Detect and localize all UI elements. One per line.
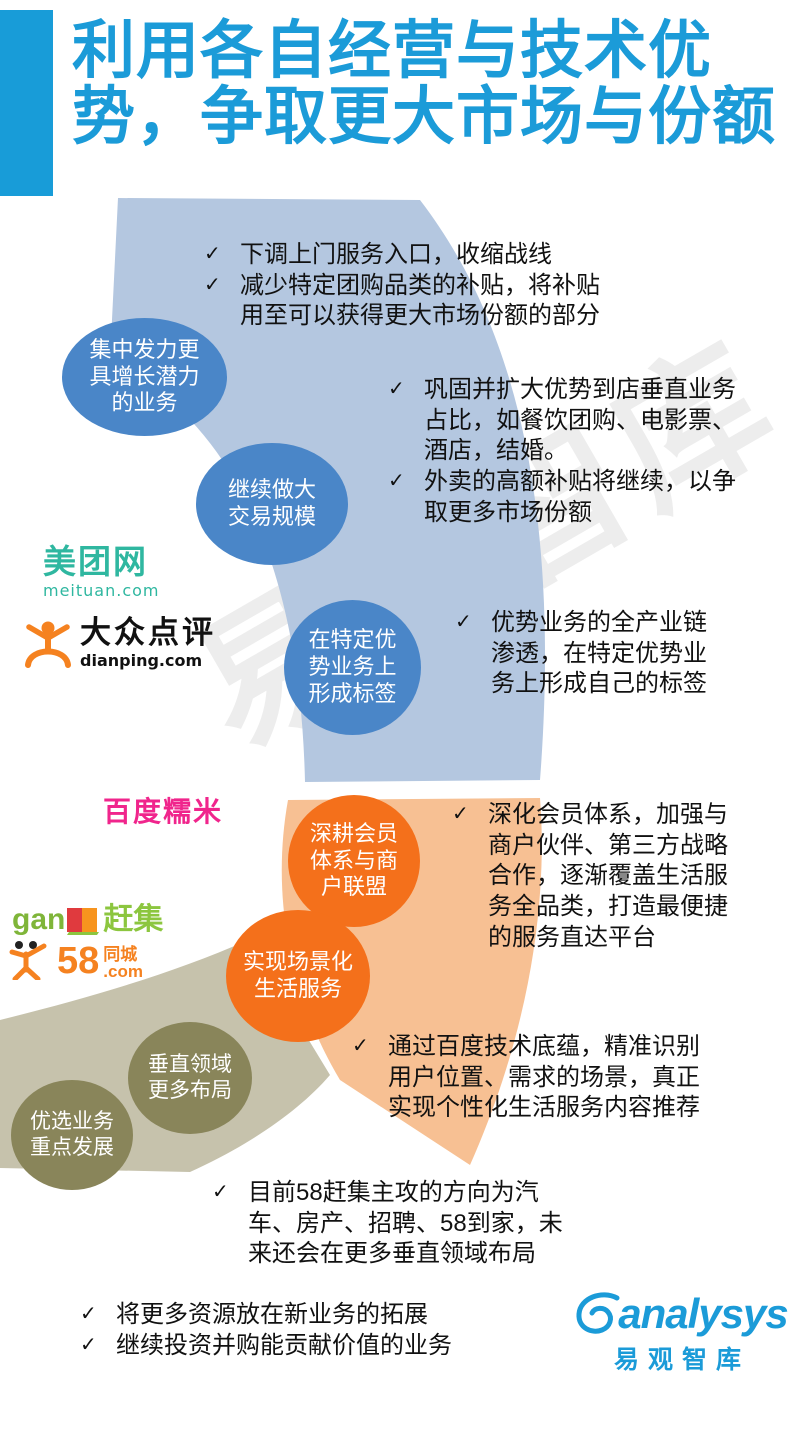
logo-meituan-name: 美团网: [43, 545, 160, 578]
bullet-text: 减少特定团购品类的补贴，将补贴: [240, 271, 794, 302]
bullet-item: ✓ 渗透，在特定优势业: [455, 639, 795, 670]
bullet-item: ✓ 务全品类，打造最便捷: [452, 892, 797, 923]
bullet-item: ✓ 巩固并扩大优势到店垂直业务: [388, 375, 808, 406]
bullets-blue-2: ✓ 巩固并扩大优势到店垂直业务 ✓ 占比，如餐饮团购、电影票、 ✓ 酒店，结婚。…: [388, 375, 808, 529]
check-icon-placeholder: ✓: [452, 861, 488, 888]
check-icon: ✓: [388, 467, 424, 494]
bullets-olive-1: ✓ 目前58赶集主攻的方向为汽 ✓ 车、房产、招聘、58到家，未 ✓ 来还会在更…: [212, 1178, 712, 1270]
check-icon-placeholder: ✓: [452, 831, 488, 858]
check-icon-placeholder: ✓: [204, 301, 240, 328]
bullet-text: 合作，逐渐覆盖生活服: [488, 861, 797, 892]
bubble-orange-2-label: 实现场景化 生活服务: [243, 949, 353, 1003]
logo-58-cn: 同城: [103, 946, 143, 963]
logo-dianping: 大众点评 dianping.com: [22, 618, 216, 670]
bullets-footer: ✓ 将更多资源放在新业务的拓展 ✓ 继续投资并购能贡献价值的业务: [80, 1300, 620, 1361]
bubble-olive-2: 优选业务 重点发展: [11, 1080, 133, 1190]
bullet-item: ✓ 目前58赶集主攻的方向为汽: [212, 1178, 712, 1209]
logo-dianping-domain: dianping.com: [80, 651, 216, 670]
logo-58-number: 58: [57, 942, 99, 980]
bullet-item: ✓ 下调上门服务入口，收缩战线: [204, 240, 794, 271]
bubble-blue-3: 在特定优 势业务上 形成标签: [284, 600, 421, 735]
bullet-text: 将更多资源放在新业务的拓展: [116, 1300, 620, 1331]
bullet-item: ✓ 将更多资源放在新业务的拓展: [80, 1300, 620, 1331]
check-icon: ✓: [388, 375, 424, 402]
logo-58-domain: .com: [103, 963, 143, 980]
bullet-text: 用至可以获得更大市场份额的部分: [240, 301, 794, 332]
check-icon: ✓: [204, 240, 240, 267]
check-icon-placeholder: ✓: [455, 669, 491, 696]
check-icon-placeholder: ✓: [352, 1093, 388, 1120]
ganji-book-icon: [67, 905, 101, 935]
logo-meituan-domain: meituan.com: [43, 581, 160, 600]
bullet-item: ✓ 继续投资并购能贡献价值的业务: [80, 1331, 620, 1362]
logo-ganji: gan 赶集: [12, 905, 163, 935]
check-icon-placeholder: ✓: [452, 923, 488, 950]
bullet-text: 的服务直达平台: [488, 923, 797, 954]
bullet-item: ✓ 来还会在更多垂直领域布局: [212, 1239, 712, 1270]
bubble-blue-1: 集中发力更 具增长潜力 的业务: [62, 318, 227, 436]
bullet-item: ✓ 用至可以获得更大市场份额的部分: [204, 301, 794, 332]
check-icon-placeholder: ✓: [455, 639, 491, 666]
bullet-item: ✓ 减少特定团购品类的补贴，将补贴: [204, 271, 794, 302]
bubble-olive-2-label: 优选业务 重点发展: [30, 1109, 114, 1160]
check-icon-placeholder: ✓: [212, 1239, 248, 1266]
bubble-blue-3-label: 在特定优 势业务上 形成标签: [308, 627, 396, 707]
bullet-text: 巩固并扩大优势到店垂直业务: [424, 375, 808, 406]
bullet-item: ✓ 用户位置、需求的场景，真正: [352, 1063, 800, 1094]
bubble-blue-2: 继续做大 交易规模: [196, 443, 348, 565]
bullet-item: ✓ 通过百度技术底蕴，精准识别: [352, 1032, 800, 1063]
check-icon-placeholder: ✓: [452, 892, 488, 919]
bullet-text: 务全品类，打造最便捷: [488, 892, 797, 923]
logo-ganji-en: gan: [12, 905, 65, 935]
check-icon-placeholder: ✓: [388, 498, 424, 525]
bullet-item: ✓ 酒店，结婚。: [388, 436, 808, 467]
dianping-person-icon: [22, 619, 74, 669]
check-icon-placeholder: ✓: [388, 406, 424, 433]
bullet-text: 继续投资并购能贡献价值的业务: [116, 1331, 620, 1362]
check-icon: ✓: [452, 800, 488, 827]
check-icon: ✓: [352, 1032, 388, 1059]
bullet-text: 务上形成自己的标签: [491, 669, 795, 700]
bullets-blue-1: ✓ 下调上门服务入口，收缩战线 ✓ 减少特定团购品类的补贴，将补贴 ✓ 用至可以…: [204, 240, 794, 332]
bubble-blue-1-label: 集中发力更 具增长潜力 的业务: [89, 337, 199, 417]
bullet-text: 深化会员体系，加强与: [488, 800, 797, 831]
bullet-text: 商户伙伴、第三方战略: [488, 831, 797, 862]
check-icon: ✓: [204, 271, 240, 298]
check-icon-placeholder: ✓: [352, 1063, 388, 1090]
bubble-orange-1-label: 深耕会员 体系与商 户联盟: [310, 821, 398, 901]
bubble-orange-1: 深耕会员 体系与商 户联盟: [288, 795, 420, 927]
bullet-text: 渗透，在特定优势业: [491, 639, 795, 670]
bullet-item: ✓ 取更多市场份额: [388, 498, 808, 529]
check-icon: ✓: [80, 1300, 116, 1327]
wuba-mascot-icon: [8, 938, 54, 980]
check-icon: ✓: [455, 608, 491, 635]
bullet-item: ✓ 的服务直达平台: [452, 923, 797, 954]
bullet-text: 酒店，结婚。: [424, 436, 808, 467]
check-icon-placeholder: ✓: [388, 436, 424, 463]
bullet-item: ✓ 商户伙伴、第三方战略: [452, 831, 797, 862]
bubble-olive-1-label: 垂直领域 更多布局: [148, 1052, 232, 1103]
bullets-orange-1: ✓ 深化会员体系，加强与 ✓ 商户伙伴、第三方战略 ✓ 合作，逐渐覆盖生活服 ✓…: [452, 800, 797, 954]
bullets-blue-3: ✓ 优势业务的全产业链 ✓ 渗透，在特定优势业 ✓ 务上形成自己的标签: [455, 608, 795, 700]
bubble-olive-1: 垂直领域 更多布局: [128, 1022, 252, 1134]
bullets-orange-2: ✓ 通过百度技术底蕴，精准识别 ✓ 用户位置、需求的场景，真正 ✓ 实现个性化生…: [352, 1032, 800, 1124]
bullet-item: ✓ 优势业务的全产业链: [455, 608, 795, 639]
logo-dianping-name: 大众点评: [80, 618, 216, 649]
bullet-text: 来还会在更多垂直领域布局: [248, 1239, 712, 1270]
bullet-text: 占比，如餐饮团购、电影票、: [424, 406, 808, 437]
brand-analysys-en: analysys: [618, 1293, 787, 1335]
logo-baidu-nuomi: 百度糯米: [103, 790, 223, 830]
bullet-text: 取更多市场份额: [424, 498, 808, 529]
logo-meituan: 美团网 meituan.com: [43, 545, 160, 600]
check-icon: ✓: [212, 1178, 248, 1205]
bubble-blue-2-label: 继续做大 交易规模: [228, 477, 316, 531]
bullet-item: ✓ 深化会员体系，加强与: [452, 800, 797, 831]
bullet-text: 用户位置、需求的场景，真正: [388, 1063, 800, 1094]
bullet-item: ✓ 实现个性化生活服务内容推荐: [352, 1093, 800, 1124]
bullet-text: 车、房产、招聘、58到家，未: [248, 1209, 712, 1240]
bullet-item: ✓ 外卖的高额补贴将继续，以争: [388, 467, 808, 498]
bullet-text: 下调上门服务入口，收缩战线: [240, 240, 794, 271]
check-icon-placeholder: ✓: [212, 1209, 248, 1236]
bubble-orange-2: 实现场景化 生活服务: [226, 910, 370, 1042]
logo-58tongcheng: 58 同城 .com: [8, 938, 143, 980]
bullet-text: 通过百度技术底蕴，精准识别: [388, 1032, 800, 1063]
check-icon: ✓: [80, 1331, 116, 1358]
bullet-item: ✓ 车、房产、招聘、58到家，未: [212, 1209, 712, 1240]
bullet-text: 实现个性化生活服务内容推荐: [388, 1093, 800, 1124]
logo-ganji-cn: 赶集: [103, 905, 163, 935]
bullet-item: ✓ 务上形成自己的标签: [455, 669, 795, 700]
bullet-item: ✓ 合作，逐渐覆盖生活服: [452, 861, 797, 892]
bullet-text: 优势业务的全产业链: [491, 608, 795, 639]
bullet-text: 目前58赶集主攻的方向为汽: [248, 1178, 712, 1209]
bullet-item: ✓ 占比，如餐饮团购、电影票、: [388, 406, 808, 437]
bullet-text: 外卖的高额补贴将继续，以争: [424, 467, 808, 498]
